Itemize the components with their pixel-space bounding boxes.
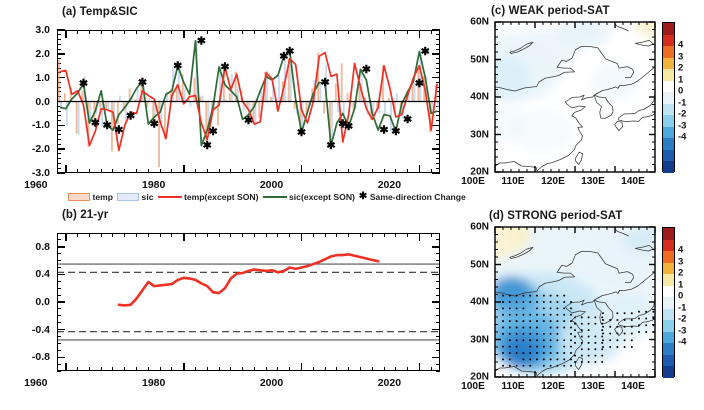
colorbar-segment	[663, 161, 674, 173]
colorbar-segment	[663, 127, 674, 139]
colorbar-segment	[663, 274, 674, 286]
map-lon-label: 140E	[611, 381, 655, 392]
panel-c: (c) WEAK period-SAT 60N50N40N30N20N100E1…	[455, 0, 704, 205]
map-lon-label: 140E	[611, 176, 655, 187]
panel-a-legend-label: sic	[142, 192, 154, 202]
legend-line-swatch	[158, 196, 182, 198]
colorbar-segment	[663, 355, 674, 367]
colorbar-segment	[663, 46, 674, 58]
panel-a-legend: tempsictemp(except SON)sic(except SON)✱S…	[68, 192, 466, 202]
map-lat-label: 30N	[455, 129, 489, 140]
colorbar-tick-label: -1	[678, 302, 686, 313]
colorbar-segment	[663, 150, 674, 162]
colorbar-tick-label: 1	[678, 279, 683, 290]
colorbar-tick-label: 0	[678, 86, 683, 97]
colorbar-tick-label: 1	[678, 74, 683, 85]
panel-a-legend-item: temp(except SON)	[158, 192, 259, 202]
colorbar-segment	[663, 58, 674, 70]
colorbar-segment	[663, 366, 674, 378]
map-lon-label: 100E	[451, 176, 495, 187]
map-lon-label: 130E	[571, 176, 615, 187]
colorbar-segment	[663, 23, 674, 35]
colorbar-tick-label: 3	[678, 51, 683, 62]
panel-a-legend-item: sic	[117, 192, 153, 202]
map-lon-label: 120E	[531, 176, 575, 187]
colorbar-segment	[663, 228, 674, 240]
colorbar-tick-label: -3	[678, 325, 686, 336]
colorbar-tick-label: 2	[678, 63, 683, 74]
colorbar-tick-label: -1	[678, 97, 686, 108]
colorbar-segment	[663, 251, 674, 263]
colorbar-tick-label: -2	[678, 314, 686, 325]
panel-a-legend-label: sic(except SON)	[289, 192, 355, 202]
map-lon-label: 110E	[491, 381, 535, 392]
colorbar-segment	[663, 332, 674, 344]
map-lat-label: 50N	[455, 54, 489, 65]
map-lon-label: 130E	[571, 381, 615, 392]
colorbar-tick-label: -4	[678, 337, 686, 348]
colorbar-segment	[663, 35, 674, 47]
map-lat-label: 30N	[455, 334, 489, 345]
colorbar-segment	[663, 81, 674, 93]
colorbar-segment	[663, 104, 674, 116]
legend-star-icon: ✱	[359, 194, 367, 200]
panel-a: (a) Temp&SIC 3.02.01.00.0-1.0-2.0-3.0196…	[0, 0, 455, 205]
colorbar	[662, 22, 675, 172]
panel-a-legend-label: temp	[93, 192, 114, 202]
colorbar-segment	[663, 320, 674, 332]
panel-a-frame	[57, 30, 440, 173]
colorbar-tick-label: -3	[678, 120, 686, 131]
colorbar-segment	[663, 92, 674, 104]
map-lon-label: 120E	[531, 381, 575, 392]
colorbar-segment	[663, 69, 674, 81]
map-lat-label: 40N	[455, 297, 489, 308]
map-lat-label: 60N	[455, 222, 489, 233]
colorbar-tick-label: 4	[678, 245, 683, 256]
legend-bar-swatch	[117, 193, 139, 201]
colorbar-segment	[663, 115, 674, 127]
map-lat-label: 50N	[455, 259, 489, 270]
colorbar-segment	[663, 297, 674, 309]
panel-d: (d) STRONG period-SAT 60N50N40N30N20N100…	[455, 205, 704, 410]
colorbar-segment	[663, 286, 674, 298]
panel-a-legend-label: Same-direction Change	[370, 192, 466, 202]
colorbar-segment	[663, 343, 674, 355]
colorbar-tick-label: 2	[678, 268, 683, 279]
map-lat-label: 40N	[455, 92, 489, 103]
panel-b: (b) 21-yr 0.80.40.0-0.4-0.81960198020002…	[0, 205, 455, 410]
legend-line-swatch	[263, 196, 287, 198]
colorbar-tick-label: 3	[678, 256, 683, 267]
panel-b-frame	[57, 233, 440, 371]
colorbar-tick-label: -2	[678, 109, 686, 120]
colorbar-tick-label: -4	[678, 132, 686, 143]
panel-a-legend-label: temp(except SON)	[184, 192, 259, 202]
panel-a-legend-item: ✱Same-direction Change	[359, 192, 466, 202]
map-lon-label: 100E	[451, 381, 495, 392]
colorbar-tick-label: 4	[678, 40, 683, 51]
figure-canvas: (a) Temp&SIC 3.02.01.00.0-1.0-2.0-3.0196…	[0, 0, 704, 410]
colorbar-segment	[663, 263, 674, 275]
legend-bar-swatch	[68, 193, 90, 201]
colorbar-tick-label: 0	[678, 291, 683, 302]
colorbar-segment	[663, 138, 674, 150]
colorbar	[662, 227, 675, 377]
colorbar-segment	[663, 309, 674, 321]
panel-a-legend-item: temp	[68, 192, 113, 202]
panel-a-legend-item: sic(except SON)	[263, 192, 355, 202]
colorbar-segment	[663, 240, 674, 252]
map-lat-label: 60N	[455, 17, 489, 28]
map-lon-label: 110E	[491, 176, 535, 187]
